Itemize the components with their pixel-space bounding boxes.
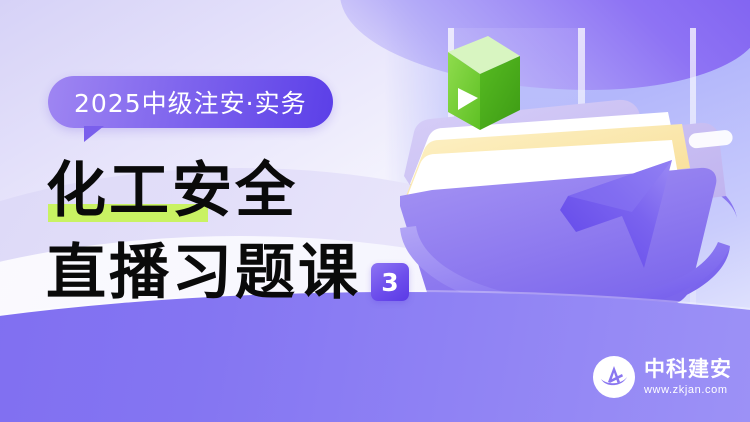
course-category-label: 2025中级注安·实务 bbox=[74, 84, 307, 120]
brand-text: 中科建安 www.zkjan.com bbox=[644, 358, 732, 397]
badge-tail bbox=[84, 126, 104, 142]
course-category-badge: 2025中级注安·实务 bbox=[48, 76, 333, 128]
course-title-secondary: 直播习题课 bbox=[46, 238, 361, 308]
title-line-2: 直播习题课 3 bbox=[46, 234, 466, 308]
course-promo-banner: 2025中级注安·实务 化工安全 直播习题课 3 中科建安 www.zkjan.… bbox=[0, 0, 750, 422]
episode-number-badge: 3 bbox=[371, 263, 409, 301]
headline-block: 化工安全 直播习题课 3 bbox=[46, 152, 466, 316]
zkjan-logo-icon bbox=[593, 356, 635, 398]
brand-name: 中科建安 bbox=[644, 358, 732, 381]
brand-url: www.zkjan.com bbox=[644, 383, 732, 397]
course-title-primary: 化工安全 bbox=[46, 156, 298, 226]
brand-logo: 中科建安 www.zkjan.com bbox=[593, 356, 732, 398]
title-line-1: 化工安全 bbox=[46, 152, 466, 226]
